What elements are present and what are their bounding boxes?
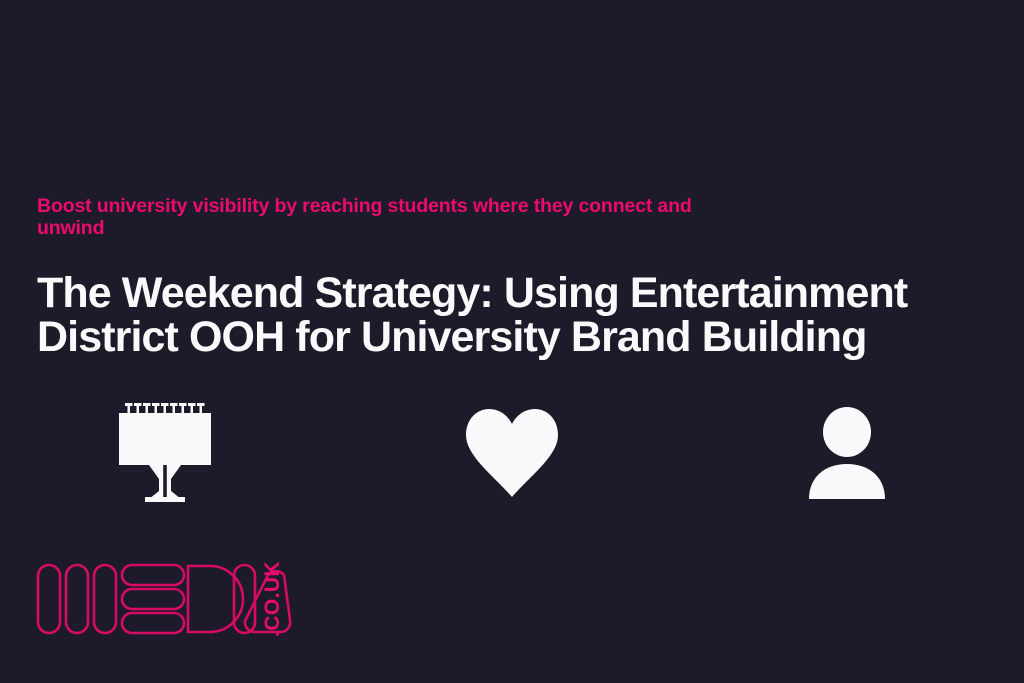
icon-row <box>0 398 1024 508</box>
page-title: The Weekend Strategy: Using Entertainmen… <box>37 240 917 360</box>
icon-slot-heart <box>447 398 577 508</box>
eyebrow-text: Boost university visibility by reaching … <box>37 196 727 240</box>
icon-slot-person <box>782 398 912 508</box>
billboard-icon <box>119 403 211 503</box>
text-content: Boost university visibility by reaching … <box>37 196 937 359</box>
logo-tld: .CO.UK <box>258 562 288 636</box>
logo-wordmark[interactable] <box>36 563 292 635</box>
person-icon <box>805 407 889 499</box>
logo-tld-text: .CO.UK <box>261 561 285 637</box>
icon-slot-billboard <box>100 398 230 508</box>
heart-icon <box>464 408 560 498</box>
media-logo-icon <box>36 563 292 635</box>
hero-card: Boost university visibility by reaching … <box>0 0 1024 683</box>
